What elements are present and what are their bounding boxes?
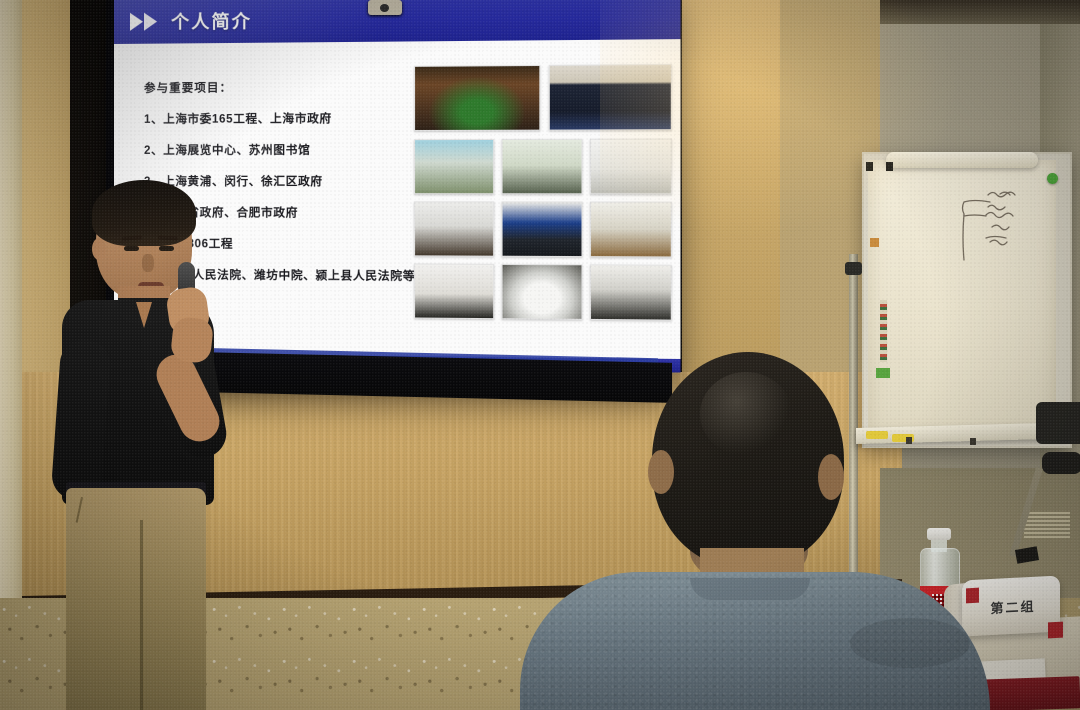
trouser-seam xyxy=(140,520,143,710)
color-strip-marker xyxy=(880,300,887,362)
slide-photo-thumb xyxy=(502,201,583,257)
attendee-collar xyxy=(690,578,810,600)
presenter-hand-lower xyxy=(170,316,214,364)
slide-photo-thumb xyxy=(502,139,583,195)
handwritten-notes xyxy=(958,186,1040,266)
presenter-hair xyxy=(92,180,196,246)
camera-lens xyxy=(380,4,389,12)
slide-bullet-3: 3、上海黄浦、闵行、徐汇区政府 xyxy=(144,173,404,189)
photo-grid-top-row xyxy=(414,64,672,131)
whiteboard-stand-post xyxy=(849,254,858,584)
presenter-eye xyxy=(124,246,139,251)
slide-photo-thumb xyxy=(590,264,672,320)
whiteboard-clip[interactable] xyxy=(866,162,873,171)
sticky-note[interactable] xyxy=(876,368,890,378)
slide-bullet-1: 1、上海市委165工程、上海市政府 xyxy=(144,110,404,127)
presenter-nose xyxy=(142,254,154,272)
slide-photo-thumb xyxy=(414,139,494,194)
photo-grid-main xyxy=(414,139,672,321)
whiteboard-magnet[interactable] xyxy=(1047,173,1058,184)
slide-photo-thumb xyxy=(414,263,494,319)
office-chair-back[interactable] xyxy=(1036,402,1080,444)
attendee-hair-highlight xyxy=(700,372,792,456)
attendee-ear xyxy=(818,454,844,500)
tray-bolt xyxy=(906,437,912,444)
video-camera-icon xyxy=(368,0,402,15)
slide-photo-thumb xyxy=(414,201,494,256)
slide-photo-thumb xyxy=(549,64,672,131)
office-chair-seat[interactable] xyxy=(1042,452,1080,474)
flipchart-paper-roll xyxy=(886,152,1038,168)
ceiling-shadow xyxy=(880,0,1080,24)
slide-photo-grid xyxy=(414,58,672,352)
double-chevron-right-icon xyxy=(130,13,157,31)
meeting-room-scene: 个人简介 参与重要项目： 1、上海市委165工程、上海市政府 2、上海展览中心、… xyxy=(0,0,1080,710)
wall-vent xyxy=(1024,512,1070,538)
slide-title: 个人简介 xyxy=(171,8,252,35)
whiteboard-height-knob[interactable] xyxy=(845,262,862,275)
sticky-note[interactable] xyxy=(870,238,879,247)
attendee-ear xyxy=(648,450,674,494)
bottle-cap[interactable] xyxy=(927,528,951,540)
attendee-shoulder-fold xyxy=(850,618,970,668)
presenter-eye xyxy=(159,246,174,251)
brand-logo-icon xyxy=(1048,622,1063,639)
red-notebook[interactable] xyxy=(975,676,1080,710)
slide-photo-thumb xyxy=(590,139,672,195)
slide-heading: 参与重要项目： xyxy=(144,78,404,96)
slide-photo-thumb xyxy=(502,264,583,320)
whiteboard-marker[interactable] xyxy=(866,431,888,439)
slide-content: 参与重要项目： 1、上海市委165工程、上海市政府 2、上海展览中心、苏州图书馆… xyxy=(144,58,672,352)
tent-card-label: 第二组 xyxy=(974,586,1052,626)
slide-photo-thumb xyxy=(414,65,541,131)
slide-bullet-2: 2、上海展览中心、苏州图书馆 xyxy=(144,141,404,158)
whiteboard-clip[interactable] xyxy=(886,162,893,171)
presenter-ear xyxy=(92,238,106,260)
tray-bolt xyxy=(970,438,976,445)
slide-photo-thumb xyxy=(590,202,672,258)
